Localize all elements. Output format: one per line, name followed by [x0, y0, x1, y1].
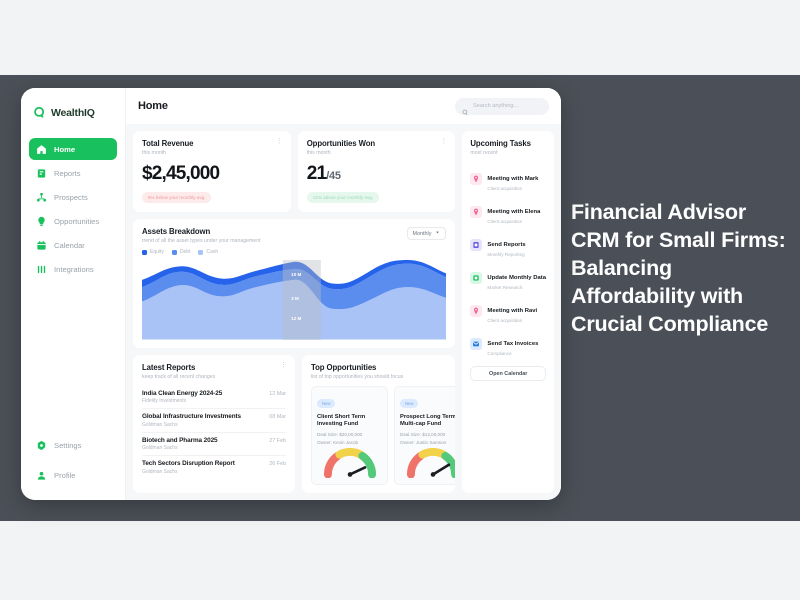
task-name: Meeting with Ravi: [487, 308, 537, 314]
page-title: Home: [138, 100, 168, 112]
more-options-icon[interactable]: ⋮: [440, 139, 447, 145]
legend-item-equity: Equity: [142, 249, 164, 255]
sidebar-item-label: Integrations: [54, 265, 94, 274]
sidebar-item-prospects[interactable]: Prospects: [29, 186, 117, 208]
report-name: India Clean Energy 2024-25: [142, 390, 265, 397]
legend-swatch: [142, 250, 147, 255]
chart-icon: [470, 272, 482, 284]
search-input[interactable]: Search anything...: [455, 98, 549, 115]
person-pin-icon: [470, 206, 482, 218]
opportunity-deal-size: Deal Size: $12,00,000: [400, 432, 455, 437]
legend-label: Cash: [206, 249, 218, 255]
report-name: Global Infrastructure Investments: [142, 413, 265, 420]
task-sub: Monthly Reporting: [487, 252, 525, 257]
calendar-icon: [36, 240, 47, 251]
opportunities-icon: [36, 216, 47, 227]
list-item[interactable]: Meeting with Elena Client acquisition: [470, 195, 546, 228]
report-date: 08 Mar: [269, 413, 286, 420]
list-item[interactable]: India Clean Energy 2024-25 Fidelity Inve…: [142, 386, 286, 409]
sidebar-item-label: Settings: [54, 441, 81, 450]
main-area: Home Search anything... ⋮ Total Revenue: [126, 88, 561, 500]
chart-legend: Equity Debt Cash: [142, 249, 446, 255]
kpi-row: ⋮ Total Revenue this month $2,45,000 5% …: [133, 131, 455, 212]
gauge-icon: [405, 448, 456, 478]
kpi-card-total-revenue: ⋮ Total Revenue this month $2,45,000 5% …: [133, 131, 291, 212]
legend-label: Debt: [180, 249, 191, 255]
list-item[interactable]: Global Infrastructure Investments Goldma…: [142, 408, 286, 432]
brand-name: WealthIQ: [51, 107, 95, 119]
chart-subtitle: trend of all the asset types under your …: [142, 238, 261, 244]
task-name: Meeting with Mark: [487, 176, 538, 182]
open-calendar-button[interactable]: Open Calendar: [470, 366, 546, 381]
task-name: Update Monthly Data: [487, 275, 546, 281]
assets-breakdown-card: Assets Breakdown trend of all the asset …: [133, 219, 455, 348]
list-item[interactable]: Update Monthly Data Market Research: [470, 261, 546, 294]
legend-swatch: [172, 250, 177, 255]
latest-reports-card: ⋮ Latest Reports keep track of all recen…: [133, 355, 295, 494]
sidebar-item-label: Home: [54, 145, 75, 154]
wealthiq-logo-icon: [33, 106, 47, 120]
kpi-value: 21/45: [307, 163, 447, 185]
task-sub: Compliance: [487, 351, 538, 356]
period-selector[interactable]: Monthly: [407, 227, 447, 240]
list-item[interactable]: Meeting with Mark Client acquisition: [470, 162, 546, 195]
prospects-icon: [36, 192, 47, 203]
opportunity-card[interactable]: New Client Short Term Investing Fund Dea…: [311, 386, 388, 486]
report-firm: Goldman Sachs: [142, 422, 265, 428]
kpi-title: Total Revenue: [142, 139, 282, 148]
brand: WealthIQ: [29, 98, 117, 124]
kpi-delta-badge: 5% below your monthly avg.: [142, 192, 211, 203]
opportunity-name: Prospect Long Term Multi-cap Fund: [400, 414, 455, 429]
dashboard-bottom-row: ⋮ Latest Reports keep track of all recen…: [133, 355, 455, 494]
sidebar-item-integrations[interactable]: Integrations: [29, 258, 117, 280]
legend-item-cash: Cash: [198, 249, 218, 255]
sidebar-bottom-nav: Settings Profile: [29, 434, 118, 486]
opportunity-gauge: [400, 448, 455, 474]
legend-item-debt: Debt: [172, 249, 191, 255]
sidebar-item-calendar[interactable]: Calendar: [29, 234, 117, 256]
opportunities-subtitle: list of top opportunities you should foc…: [311, 374, 446, 380]
task-name: Meeting with Elena: [487, 209, 540, 215]
chart-title: Assets Breakdown: [142, 227, 261, 236]
report-date: 27 Feb: [269, 437, 286, 444]
legend-swatch: [198, 250, 203, 255]
kpi-value-main: $2,45,000: [142, 163, 219, 184]
sidebar-nav: Home Reports Prospects: [29, 138, 117, 280]
reports-icon: [36, 168, 47, 179]
kpi-subtitle: this month: [307, 150, 447, 156]
sidebar-item-label: Profile: [54, 471, 76, 480]
list-item[interactable]: Send Tax Invoices Compliance: [470, 327, 546, 360]
report-firm: Fidelity Investments: [142, 398, 265, 404]
settings-icon: [36, 440, 47, 451]
sidebar-item-label: Opportunities: [54, 217, 99, 226]
top-opportunities-card: Top Opportunities list of top opportunit…: [302, 355, 455, 494]
task-sub: Client acquisition: [487, 219, 540, 224]
person-pin-icon: [470, 305, 482, 317]
report-date: 26 Feb: [269, 460, 286, 467]
mail-icon: [470, 338, 482, 350]
report-date: 12 Mar: [269, 390, 286, 397]
more-options-icon[interactable]: ⋮: [280, 363, 287, 369]
dashboard-left-column: ⋮ Total Revenue this month $2,45,000 5% …: [133, 131, 455, 493]
more-options-icon[interactable]: ⋮: [276, 139, 283, 145]
opportunity-gauge: [317, 448, 382, 474]
list-item[interactable]: Meeting with Ravi Client acquisition: [470, 294, 546, 327]
sidebar-item-home[interactable]: Home: [29, 138, 117, 160]
integrations-icon: [36, 264, 47, 275]
task-sub: Market Research: [487, 285, 546, 290]
page-root: Financial Advisor CRM for Small Firms: B…: [0, 0, 800, 600]
upcoming-tasks-card: Upcoming Tasks most recent Meeting with …: [462, 131, 554, 493]
gauge-icon: [322, 448, 378, 478]
sidebar-item-label: Calendar: [54, 241, 85, 250]
reports-title: Latest Reports: [142, 363, 286, 372]
tasks-title: Upcoming Tasks: [470, 139, 546, 148]
kpi-value-denominator: /45: [326, 170, 340, 182]
status-badge: New: [400, 399, 418, 408]
kpi-title: Opportunities Won: [307, 139, 447, 148]
task-name: Send Tax Invoices: [487, 341, 538, 347]
kpi-delta-badge: 12% above your monthly avg.: [307, 192, 380, 203]
period-label: Monthly: [413, 231, 432, 237]
report-name: Biotech and Pharma 2025: [142, 437, 265, 444]
search-placeholder: Search anything...: [473, 103, 518, 109]
profile-icon: [36, 470, 47, 481]
kpi-value-main: 21: [307, 163, 327, 184]
opportunities-title: Top Opportunities: [311, 363, 446, 372]
chart-svg: [142, 260, 446, 340]
opportunity-card[interactable]: New Prospect Long Term Multi-cap Fund De…: [394, 386, 455, 486]
reports-subtitle: keep track of all recent changes: [142, 374, 286, 380]
tasks-list: Meeting with Mark Client acquisition Mee…: [470, 162, 546, 360]
report-firm: Goldman Sachs: [142, 469, 265, 475]
reports-list: India Clean Energy 2024-25 Fidelity Inve…: [142, 386, 286, 479]
chart-hover-column: [283, 260, 321, 340]
list-item[interactable]: Send Reports Monthly Reporting: [470, 228, 546, 261]
headline-text: Financial Advisor CRM for Small Firms: B…: [571, 198, 786, 338]
opportunity-name: Client Short Term Investing Fund: [317, 414, 382, 429]
opportunities-list: New Client Short Term Investing Fund Dea…: [311, 386, 446, 486]
sidebar-item-label: Prospects: [54, 193, 88, 202]
task-sub: Client acquisition: [487, 186, 538, 191]
status-badge: New: [317, 399, 335, 408]
opportunity-deal-size: Deal Size: $20,00,000: [317, 432, 382, 437]
report-firm: Goldman Sachs: [142, 445, 265, 451]
kpi-value: $2,45,000: [142, 163, 282, 185]
home-icon: [36, 144, 47, 155]
tasks-subtitle: most recent: [470, 150, 546, 156]
sidebar-item-settings[interactable]: Settings: [29, 434, 118, 456]
chart-header: Assets Breakdown trend of all the asset …: [142, 227, 446, 244]
legend-label: Equity: [150, 249, 164, 255]
report-name: Tech Sectors Disruption Report: [142, 460, 265, 467]
sidebar-item-profile[interactable]: Profile: [29, 464, 118, 486]
dashboard-right-column: Upcoming Tasks most recent Meeting with …: [462, 131, 554, 493]
person-pin-icon: [470, 173, 482, 185]
search-icon: [462, 103, 469, 110]
sidebar-item-reports[interactable]: Reports: [29, 162, 117, 184]
list-item[interactable]: Biotech and Pharma 2025 Goldman Sachs 27…: [142, 432, 286, 456]
kpi-card-opportunities-won: ⋮ Opportunities Won this month 21/45 12%…: [298, 131, 456, 212]
task-name: Send Reports: [487, 242, 525, 248]
document-icon: [470, 239, 482, 251]
assets-area-chart[interactable]: 10 M 3 M 12 M: [142, 260, 446, 340]
sidebar-item-label: Reports: [54, 169, 81, 178]
kpi-subtitle: this month: [142, 150, 282, 156]
dashboard-content: ⋮ Total Revenue this month $2,45,000 5% …: [126, 124, 561, 500]
task-sub: Client acquisition: [487, 318, 537, 323]
app-window: WealthIQ Home Reports: [21, 88, 561, 500]
opportunity-owner: Owner: Justin Samson: [400, 440, 455, 445]
list-item[interactable]: Tech Sectors Disruption Report Goldman S…: [142, 455, 286, 479]
sidebar: WealthIQ Home Reports: [21, 88, 126, 500]
chevron-down-icon: [435, 230, 440, 237]
topbar: Home Search anything...: [126, 88, 561, 124]
opportunity-owner: Owner: Kevin Jacob: [317, 440, 382, 445]
sidebar-item-opportunities[interactable]: Opportunities: [29, 210, 117, 232]
